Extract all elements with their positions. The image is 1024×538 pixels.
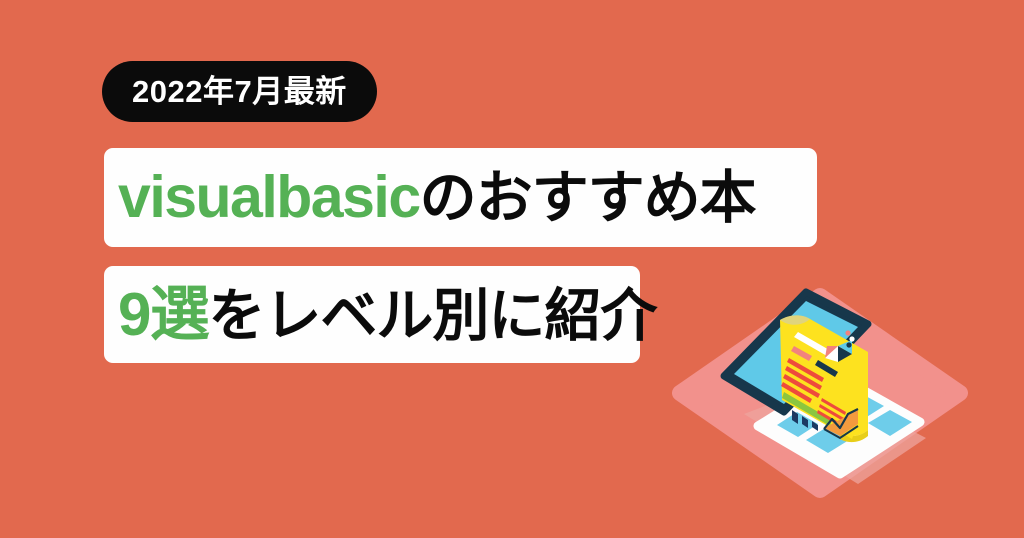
headline-plate-2: 9選をレベル別に紹介 xyxy=(104,266,640,363)
eyecatch-canvas: 2022年7月最新 visualbasicのおすすめ本 9選をレベル別に紹介 xyxy=(0,0,1024,538)
headline-plate-1: visualbasicのおすすめ本 xyxy=(104,148,817,247)
status-badge: 2022年7月最新 xyxy=(102,61,377,122)
headline-line-1: visualbasicのおすすめ本 xyxy=(118,168,756,227)
headline-rest-2: をレベル別に紹介 xyxy=(208,284,656,348)
headline-keyword-1: visualbasic xyxy=(118,164,420,230)
status-badge-label: 2022年7月最新 xyxy=(132,76,347,107)
headline-line-2: 9選をレベル別に紹介 xyxy=(118,285,656,345)
headline-keyword-2: 9選 xyxy=(118,281,208,348)
laptop-report-illustration xyxy=(672,288,968,500)
headline-rest-1: のおすすめ本 xyxy=(420,166,756,230)
